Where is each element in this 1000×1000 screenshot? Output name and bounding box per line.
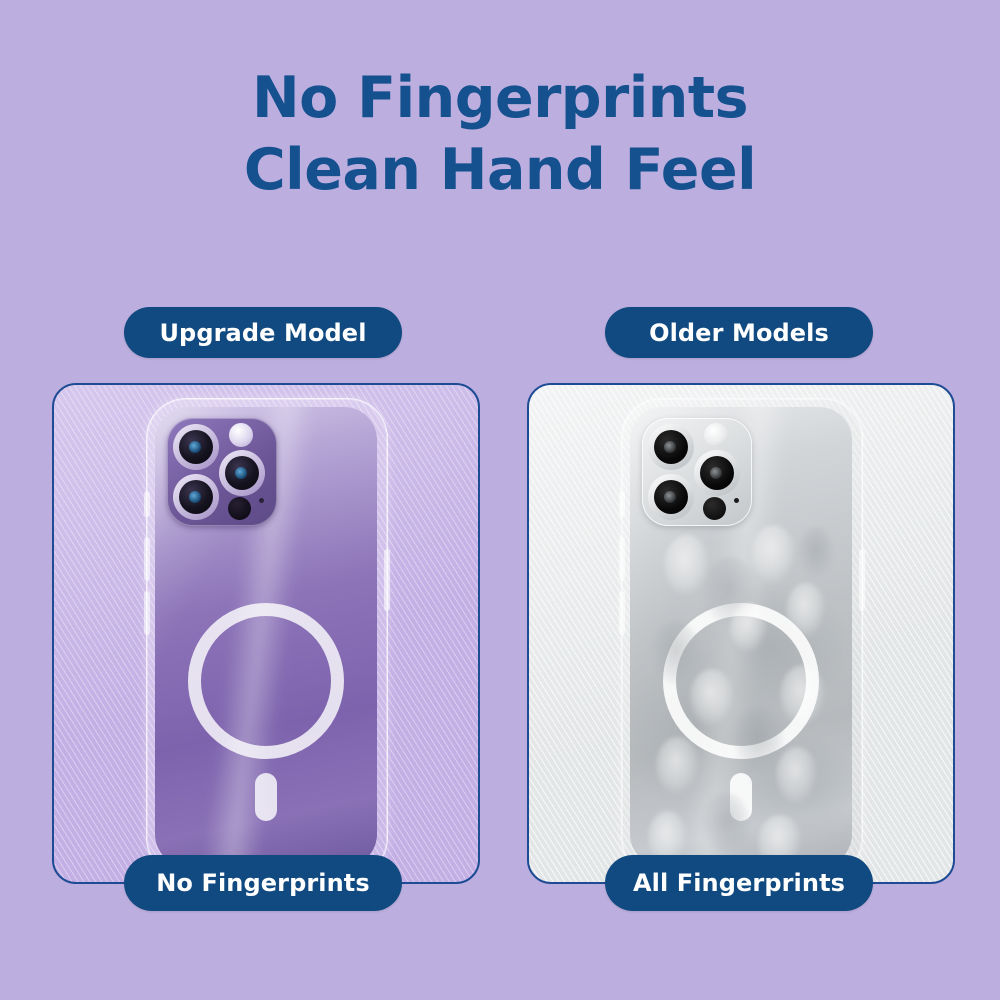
badge-no-fingerprints: No Fingerprints <box>124 855 402 911</box>
fingerprint-smudge <box>730 603 768 653</box>
badge-older-models-label: Older Models <box>649 319 829 347</box>
microphone-icon <box>259 498 264 503</box>
panel-upgrade-model <box>52 383 480 884</box>
case-button-cutout <box>859 549 865 611</box>
case-button-cutout <box>384 549 390 611</box>
page-title: No Fingerprints Clean Hand Feel <box>0 62 1000 207</box>
case-button-cutout <box>619 591 625 635</box>
fingerprint-smudge <box>780 665 826 727</box>
fingerprint-smudge <box>702 793 750 855</box>
badge-all-fingerprints-label: All Fingerprints <box>633 869 845 897</box>
badge-upgrade-model-label: Upgrade Model <box>159 319 366 347</box>
product-comparison-graphic: No Fingerprints Clean Hand Feel Upgrade … <box>0 0 1000 1000</box>
magsafe-ring-icon <box>188 603 344 759</box>
fingerprint-smudge <box>664 535 710 597</box>
camera-flash-icon <box>229 423 253 447</box>
phone-upgrade-model <box>146 398 386 876</box>
camera-lens-icon <box>173 474 219 520</box>
badge-upgrade-model: Upgrade Model <box>124 307 402 358</box>
fingerprint-smudge <box>690 669 734 727</box>
phone-back-panel <box>630 407 852 867</box>
fingerprint-smudges <box>630 407 852 867</box>
panel-older-models <box>527 383 955 884</box>
phone-back-panel <box>155 407 377 867</box>
magsafe-alignment-bar-icon <box>255 773 277 821</box>
case-button-cutout <box>144 491 150 517</box>
case-button-cutout <box>144 537 150 581</box>
badge-all-fingerprints: All Fingerprints <box>605 855 873 911</box>
lidar-sensor-icon <box>228 497 251 520</box>
fingerprint-smudge <box>656 737 700 795</box>
case-button-cutout <box>619 537 625 581</box>
fingerprint-smudge <box>798 527 834 577</box>
phone-older-model <box>621 398 861 876</box>
fingerprint-smudge <box>776 747 818 805</box>
headline-line-1: No Fingerprints <box>252 65 748 131</box>
camera-module <box>167 418 277 526</box>
fingerprint-smudge <box>786 583 826 639</box>
fingerprint-smudge <box>652 621 700 685</box>
badge-no-fingerprints-label: No Fingerprints <box>156 869 370 897</box>
camera-lens-icon <box>173 424 219 470</box>
camera-lens-icon <box>219 450 265 496</box>
fingerprint-smudge <box>734 707 784 773</box>
case-button-cutout <box>619 491 625 517</box>
headline-line-2: Clean Hand Feel <box>0 134 1000 206</box>
fingerprint-smudge <box>752 525 796 585</box>
case-button-cutout <box>144 591 150 635</box>
badge-older-models: Older Models <box>605 307 873 358</box>
